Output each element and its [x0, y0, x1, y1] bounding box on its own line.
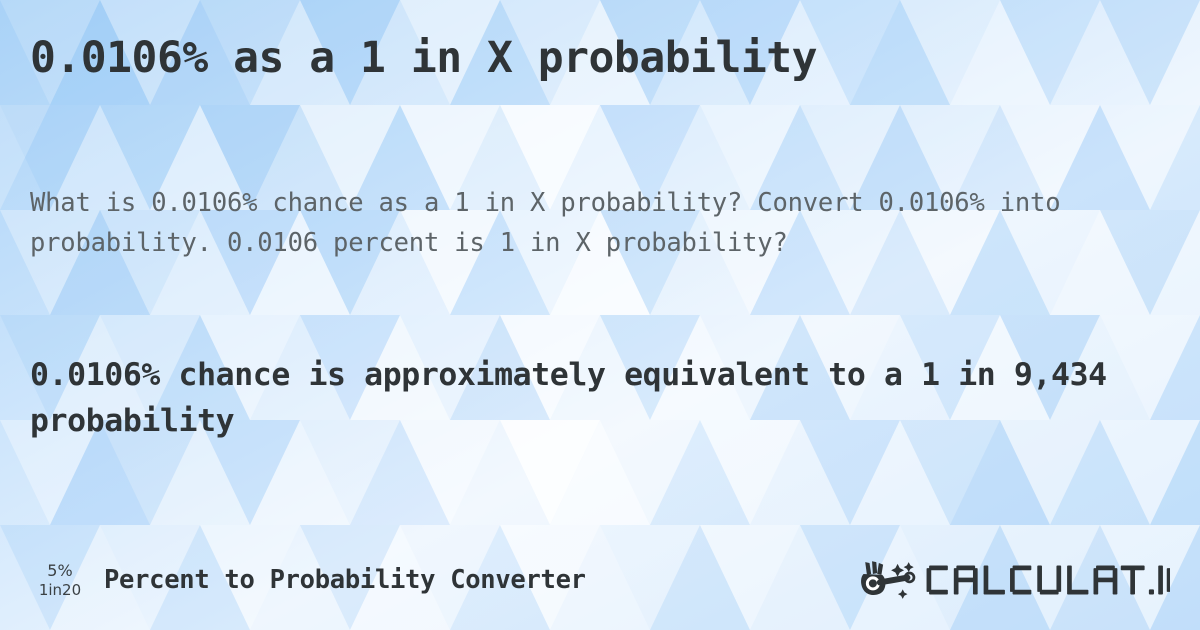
answer-statement: 0.0106% chance is approximately equivale… [30, 352, 1175, 444]
brand-logo-group[interactable]: CALCULAT.IO [855, 557, 1170, 603]
og-card: 0.0106% as a 1 in X probability What is … [0, 0, 1200, 630]
calculatio-wordmark-o [1167, 568, 1170, 592]
badge-top-label: 5% [47, 561, 72, 580]
badge-bottom-label: 1in20 [39, 581, 81, 599]
page-title: 0.0106% as a 1 in X probability [30, 34, 1170, 84]
percent-to-probability-badge-icon: 5% 1in20 [30, 558, 90, 602]
calculatio-logo[interactable] [855, 557, 1170, 603]
footer-left-group: 5% 1in20 Percent to Probability Converte… [30, 558, 586, 602]
calculatio-wordmark [926, 566, 1162, 595]
footer-title: Percent to Probability Converter [104, 565, 586, 595]
footer: 5% 1in20 Percent to Probability Converte… [0, 544, 1200, 630]
card-content: 0.0106% as a 1 in X probability What is … [0, 0, 1200, 630]
intro-description: What is 0.0106% chance as a 1 in X proba… [30, 183, 1120, 263]
hand-holding-magic-wand-icon [861, 561, 914, 599]
